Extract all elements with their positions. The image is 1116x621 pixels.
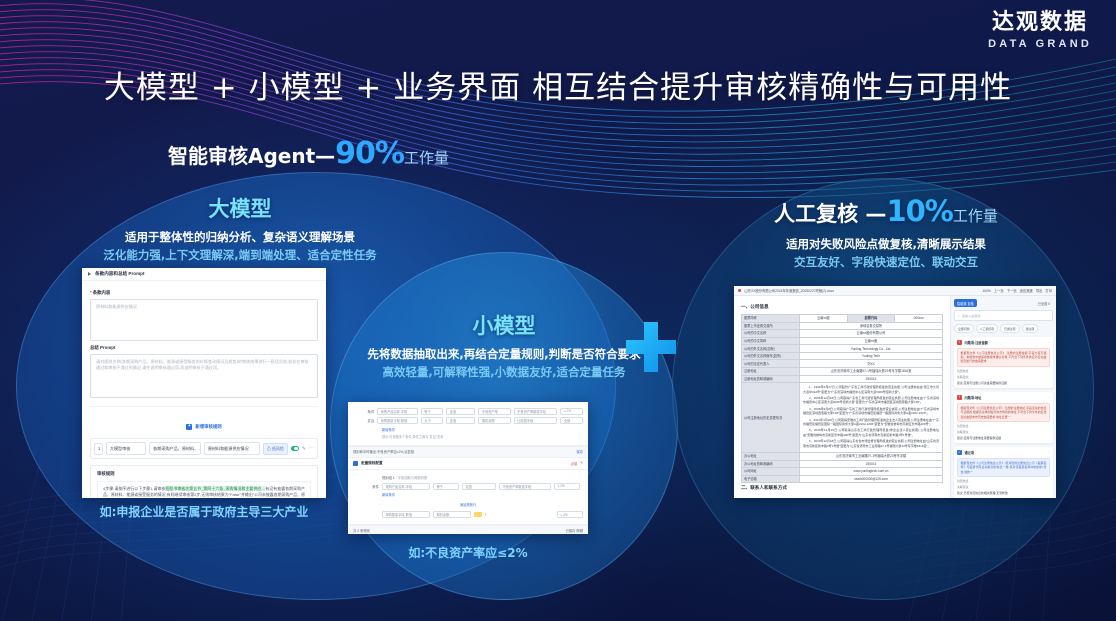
group-label: 规则组 1 xyxy=(382,475,395,480)
cell-key: 办公地址 xyxy=(742,453,800,461)
history-item: 4、2011年4月20日,公司取得安徽省工商行政管理局核发的企业法人营业执照,公… xyxy=(803,418,939,427)
add-condition-row: 新增条件 xyxy=(353,427,583,432)
chevron-right-icon[interactable] xyxy=(88,272,91,276)
review-card[interactable]: ! 问题项:注册金额 ⋯ 根据现文件《公司注册信息公示》:注册的注册金额,字段为… xyxy=(954,337,1053,388)
filter-chip-passed[interactable]: 已通过项 xyxy=(1000,324,1020,333)
error-icon: ! xyxy=(957,395,962,400)
table-row: 办公地址山东省济南市工业南路97-1号福瑞大厦23号写字楼 xyxy=(742,453,943,461)
rule-enable-toggle[interactable] xyxy=(291,446,299,451)
history-item: 1、1999年5月27日,公司股份广东省工商行政管理局核发的营业执照,公司注册地… xyxy=(803,385,939,394)
cell-value: 云南xx股 xyxy=(800,315,848,323)
condition-valuetype-select[interactable]: 定值 xyxy=(446,408,475,415)
field2-label: 总结 Prompt xyxy=(90,345,318,351)
card-title: 问题项:注册金额 xyxy=(965,340,988,345)
condition-value-input[interactable]: 不良资产率 xyxy=(478,408,510,415)
doc-heading-company-info: 一、公司信息 xyxy=(741,304,943,310)
quant-valuetype-select[interactable]: 定值 xyxy=(462,483,496,490)
toolbar-zoom[interactable]: 100% xyxy=(982,289,990,293)
slide-canvas: 达观数据 DATA GRAND 大模型 + 小模型 + 业务界面 相互结合提升审… xyxy=(0,0,1116,621)
cell-value: 250014 xyxy=(800,460,943,468)
doc-heading-contacts: 二、联系人和联系方式 xyxy=(741,485,943,491)
condition-value-input[interactable]: 期初余额 xyxy=(478,417,510,424)
table-row: 公司的法定代表人刘XX xyxy=(742,360,943,368)
cell-value: Yunling Technology Co., Ltd. xyxy=(800,345,943,353)
cell-key: 公司的法定代表人 xyxy=(742,360,800,368)
rule-text-1: 4步骤:请按序进行以下步骤1.请审核 xyxy=(103,486,165,491)
search-placeholder: 请输入关键词 xyxy=(962,313,981,318)
cell-key: 公司注册地址历史变更情况 xyxy=(742,383,800,453)
rule-type-select[interactable]: 大模型审核 xyxy=(106,442,146,455)
cell-value: 000xxx xyxy=(895,315,943,323)
table-row: 办公地址的邮政编码250014 xyxy=(742,460,943,468)
manual-review-heading-group: 人工复核 —10%工作量 适用对失败风险点做复核,清晰展示结果 交互友好、字段快… xyxy=(700,198,1072,271)
cell-key: 公司的外文名称(如有) xyxy=(742,345,800,353)
quant-threshold-input[interactable]: ≤ 2% xyxy=(554,483,580,490)
condition-compare-select[interactable]: 比较值字段 xyxy=(514,417,558,424)
history-item: 3、2008年9月8日,公司取得广东省工商行政管理局核发的营业执照,公司注册地址… xyxy=(803,407,939,416)
document-tab-title[interactable]: 山东XX股份有限公司2024年年度报告_20250227终稿(2).docx xyxy=(744,288,834,293)
card-title: 问题项:地址 xyxy=(965,395,982,400)
table-row: 公司的中文名称云南xx股份有限公司 xyxy=(742,330,943,338)
condition-field-select[interactable]: 采购数量字段-数值 xyxy=(377,417,418,424)
cell-paragraph: 1、1999年5月27日,公司股份广东省工商行政管理局核发的营业执照,公司注册地… xyxy=(800,383,943,453)
condition-threshold-input[interactable]: ≤ 2% xyxy=(560,408,583,415)
rule-index: 1 xyxy=(94,443,103,455)
condition-row[interactable]: 条件 采购产品名称-字段 等于 定值 不良资产率 不良资产率数值字段 ≤ 2% xyxy=(353,408,583,415)
cell-key: 注册地址 xyxy=(742,368,800,376)
brand-name-en: DATA GRAND xyxy=(988,37,1092,51)
toolbar-prev-page[interactable]: 上一页 xyxy=(994,288,1004,293)
cell-value: Yunling Tech xyxy=(800,352,943,360)
table-row: 公司的中文简称云南xx股 xyxy=(742,337,943,345)
search-icon: ⌕ xyxy=(958,314,960,318)
cell-key: 电子信箱 xyxy=(742,475,800,483)
quant-last-threshold[interactable]: ≤ 2% xyxy=(557,511,583,518)
card-suggestion: 建议:已核对该信息的相关整理,无须修改 xyxy=(957,491,1050,495)
card-location-label: 位置信息 xyxy=(957,424,1050,428)
agent-workload-label: 智能审核Agent—90%工作量 xyxy=(168,136,449,171)
toolbar-export[interactable]: 导出 xyxy=(1036,288,1043,293)
plus-icon: + xyxy=(186,424,192,430)
add-rule-line-link[interactable]: 添加规则行 xyxy=(353,500,583,509)
cell-value: 云南xx股 xyxy=(800,337,943,345)
group-label-row: 规则组 1 字段抽取与阈值判断 xyxy=(353,475,583,480)
page-title: 大模型 + 小模型 + 业务界面 相互结合提升审核精确性与可用性 xyxy=(0,62,1116,107)
rule-field-select[interactable]: 各期采购产品、原材料、… xyxy=(149,442,201,455)
manual-review-subtitle-1: 适用对失败风险点做复核,清晰展示结果 xyxy=(700,235,1072,253)
big-model-screenshot: 条款内容和总结 Prompt *条款内容 原材料和能源供应情况 总结 Promp… xyxy=(82,268,326,498)
table-row: 电子信箱stock000000@126.com xyxy=(742,475,943,483)
quant-rule-section-header: 定量规则配置 必填 ✎ xyxy=(348,458,588,470)
footer-right: 已保存 刚刚 xyxy=(566,528,583,533)
field1-textarea[interactable]: 原材料和能源供应情况 xyxy=(90,299,318,341)
manual-title-prefix: 人工复核 — xyxy=(774,202,886,226)
field1-label-text: 条款内容 xyxy=(93,290,111,295)
big-model-caption: 如:申报企业是否属于政府主导三大产业 xyxy=(82,503,326,520)
pencil-icon[interactable]: ✎ xyxy=(580,461,583,465)
cell-key: 公司网址 xyxy=(742,468,800,476)
toolbar-next-page[interactable]: 下一页 xyxy=(1007,288,1017,293)
cell-value: 深圳证券交易所 xyxy=(800,322,943,330)
rule-target-select[interactable]: 原材料和能源供应情况 xyxy=(204,442,260,455)
browser-tab-bar: 山东XX股份有限公司2024年年度报告_20250227终稿(2).docx 1… xyxy=(734,286,1056,296)
brand-logo: 达观数据 DATA GRAND xyxy=(988,10,1092,51)
toolbar-print[interactable]: 打印 xyxy=(1045,288,1052,293)
sub-label: 字段抽取与阈值判断 xyxy=(398,475,428,480)
output-bar: 规则命中时输出:不良资产率应≤2%,请复核 保存 xyxy=(348,446,588,458)
table-row: 注册地址山东省济南市工业南路97-1号福瑞大厦23号写字楼1816室 xyxy=(742,368,943,376)
quant-add-link[interactable]: 新增条件 xyxy=(382,492,395,497)
card-field-label: 关联建议 xyxy=(957,485,1050,489)
company-info-table: 股票简称 云南xx股 股票代码 000xxx 股票上市证券交易所深圳证券交易所 … xyxy=(741,314,943,483)
filter-chip-manual-items[interactable]: 人工复核项 xyxy=(976,324,998,333)
pencil-icon[interactable]: ✎ xyxy=(302,446,306,452)
big-model-subtitle-2: 泛化能力强,上下文理解深,端到端处理、适合定性任务 xyxy=(40,246,440,264)
filter-chip-all-issues[interactable]: 全部问题 xyxy=(954,324,974,333)
document-pane: 一、公司信息 股票简称 云南xx股 股票代码 000xxx 股票上市证券交易所深… xyxy=(734,296,950,498)
agent-prefix: 智能审核Agent— xyxy=(168,144,335,168)
quant-field-select[interactable]: 采购产品名称-字段 xyxy=(382,483,430,490)
rule-detail-title: 审核规则 xyxy=(97,471,311,477)
error-marker: ! xyxy=(485,513,486,517)
card-header: ! 问题项:注册金额 ⋯ xyxy=(957,340,1050,345)
table-row: 公司的外文名称(如有)Yunling Technology Co., Ltd. xyxy=(742,345,943,353)
hint-text: 提示:可设置多个条件,条件之间为"并且"关系 xyxy=(382,434,443,439)
filter-chip-pass[interactable]: 通过项 xyxy=(1022,324,1039,333)
agent-percent: 90% xyxy=(335,136,404,171)
card-quote: 根据现文件《公司注册信息公示》:注册的注册地址,字段变动的信息与证据的,根据该请… xyxy=(957,403,1050,423)
rule-table-row[interactable]: 1 大模型审核 各期采购产品、原材料、… 原材料和能源供应情况 ⚠ 低风险 ✎ … xyxy=(90,438,318,459)
ellipsis-icon[interactable]: ⋯ xyxy=(1047,340,1050,345)
table-row: 股票简称 云南xx股 股票代码 000xxx xyxy=(742,315,943,323)
quant-rule-title: 定量规则配置 xyxy=(361,461,383,466)
quant-operator-select[interactable]: 等于 xyxy=(433,483,459,490)
card-field-label: 关联建议 xyxy=(957,375,1050,379)
brand-name-cn: 达观数据 xyxy=(988,10,1092,36)
table-row: 公司网址www.yunlingtech.com.cn xyxy=(742,468,943,476)
footer-bar: 共 2 条规则 已保存 刚刚 xyxy=(348,525,588,535)
manual-percent: 10% xyxy=(886,194,952,228)
card-quote: 根据现文件《公司注册信息公示》:注册的注册金额,字段为百万级别。本报告中披露的数… xyxy=(957,348,1050,368)
quant-add-row: 新增条件 xyxy=(353,492,583,497)
table-row: 公司的外文名称缩写(如有)Yunling Tech xyxy=(742,352,943,360)
tab-all-items[interactable]: 已全部 6 xyxy=(1035,299,1053,307)
card-field-label: 关联建议 xyxy=(957,430,1050,434)
rule-block-icon xyxy=(353,461,358,466)
history-item: 2、2005年12月18日,公司取得广东省工商行政管理局核发的营业执照,公司注册… xyxy=(803,396,939,405)
small-model-caption: 如:不良资产率应≤2% xyxy=(348,544,588,561)
add-condition-link[interactable]: 新增条件 xyxy=(382,427,395,432)
review-tabs: 智能核 复核 已全部 6 xyxy=(954,299,1053,307)
cell-key: 公司的外文名称缩写(如有) xyxy=(742,352,800,360)
card-quote: 根据现文件《公司注册信息公示》:核对现的注册信息公示《股票名称》与股票代码变动情… xyxy=(957,458,1050,478)
card-header: ✓ 通过项 ⋯ xyxy=(957,450,1050,455)
condition-row-label: 并且 xyxy=(353,418,374,423)
big-model-subtitle-1: 适用于整体性的归纳分析、复杂语义理解场景 xyxy=(40,228,440,246)
ellipsis-icon[interactable]: ⋯ xyxy=(1047,395,1050,400)
table-row: 注册地址的邮政编码250014 xyxy=(742,375,943,383)
agent-unit: 工作量 xyxy=(404,149,449,167)
ellipsis-icon[interactable]: ⋯ xyxy=(309,445,314,452)
cell-key: 股票上市证券交易所 xyxy=(742,322,800,330)
big-model-title: 大模型 xyxy=(40,196,440,222)
condition-row-label: 条件 xyxy=(353,409,374,414)
add-rule-row: + 新增审核规则 xyxy=(90,406,318,432)
table-row: 股票上市证券交易所深圳证券交易所 xyxy=(742,322,943,330)
card-suggestion: 建议:应用与注册公司资金需要提供证据 xyxy=(957,381,1050,385)
cell-value: 山东省济南市工业南路97-1号福瑞大厦23号写字楼1816室 xyxy=(800,368,943,376)
required-marker: * xyxy=(90,290,92,295)
cell-key: 股票简称 xyxy=(742,315,800,323)
risk-badge: ⚠ 低风险 xyxy=(263,443,288,455)
big-model-heading-group: 大模型 适用于整体性的归纳分析、复杂语义理解场景 泛化能力强,上下文理解深,端到… xyxy=(40,196,440,264)
ellipsis-icon[interactable]: ⋯ xyxy=(1047,450,1050,455)
card-header: ! 问题项:地址 ⋯ xyxy=(957,395,1050,400)
quant-value-input[interactable]: 不良资产率数值字段 xyxy=(499,483,551,490)
card-location-label: 位置信息 xyxy=(957,369,1050,373)
highlight-marker xyxy=(474,512,482,517)
condition-compare-select[interactable]: 不良资产率数值字段 xyxy=(514,408,558,415)
cell-value: www.yunlingtech.com.cn xyxy=(800,468,943,476)
cell-key: 注册地址的邮政编码 xyxy=(742,375,800,383)
review-search-input[interactable]: ⌕ 请输入关键词 xyxy=(954,310,1053,321)
quant-last-value[interactable]: 期初余额 xyxy=(433,511,471,518)
rule-detail-box: 审核规则 4步骤:请按序进行以下步骤1.请审核招股书审核次第五节_第四十六条_采… xyxy=(90,465,318,498)
toolbar-fit-width[interactable]: 适应宽度 xyxy=(1020,288,1033,293)
cell-value: 250014 xyxy=(800,375,943,383)
condition-operator-select[interactable]: 大于 xyxy=(421,417,444,424)
cell-value: stock000000@126.com xyxy=(800,475,943,483)
field2-textarea[interactable]: 请对规则名称(各期采购产品、原材料、能源或接受服务的价格变动情况及趋势)的审核结… xyxy=(90,354,318,398)
table-row: 公司注册地址历史变更情况 1、1999年5月27日,公司股份广东省工商行政管理局… xyxy=(742,383,943,453)
manual-review-screenshot: 山东XX股份有限公司2024年年度报告_20250227终稿(2).docx 1… xyxy=(734,286,1056,498)
quant-condition-row[interactable]: 条件 采购产品名称-字段 等于 定值 不良资产率数值字段 ≤ 2% xyxy=(353,483,583,490)
small-model-screenshot: 条件 采购产品名称-字段 等于 定值 不良资产率 不良资产率数值字段 ≤ 2% … xyxy=(348,402,588,534)
risk-badge-label: 低风险 xyxy=(272,446,284,451)
footer-left: 共 2 条规则 xyxy=(353,528,370,533)
add-rule-label: 新增审核规则 xyxy=(195,424,221,430)
card-title: 通过项 xyxy=(965,450,975,455)
review-card[interactable]: ✓ 通过项 ⋯ 根据现文件《公司注册信息公示》:核对现的注册信息公示《股票名称》… xyxy=(954,447,1053,498)
condition-operator-select[interactable]: 等于 xyxy=(421,408,444,415)
condition-section-top: 条件 采购产品名称-字段 等于 定值 不良资产率 不良资产率数值字段 ≤ 2% … xyxy=(348,402,588,446)
rule-highlight-1: 招股书审核次第五节_第四十六条_采购情况和主要供应… xyxy=(165,486,265,491)
hint-row: 提示:可设置多个条件,条件之间为"并且"关系 xyxy=(353,434,583,439)
cell-key: 办公地址的邮政编码 xyxy=(742,460,800,468)
add-rule-button[interactable]: + 新增审核规则 xyxy=(186,424,221,430)
manual-review-subtitle-2: 交互友好、字段快速定位、联动交互 xyxy=(700,253,1072,271)
review-card[interactable]: ! 问题项:地址 ⋯ 根据现文件《公司注册信息公示》:注册的注册地址,字段变动的… xyxy=(954,392,1053,443)
tab-smart-review[interactable]: 智能核 复核 xyxy=(954,299,977,307)
review-filter-chips: 全部问题 人工复核项 已通过项 通过项 xyxy=(954,324,1053,333)
cell-key: 公司的中文简称 xyxy=(742,337,800,345)
cell-value: 刘XX xyxy=(800,360,943,368)
field1-label: *条款内容 xyxy=(90,290,318,296)
manual-unit: 工作量 xyxy=(953,207,998,225)
error-icon: ! xyxy=(957,340,962,345)
cell-value: 山东省济南市工业南路97-1号福瑞大厦23号写字楼 xyxy=(800,453,943,461)
card-location-label: 位置信息 xyxy=(957,479,1050,483)
condition-threshold-input[interactable]: 全部 xyxy=(560,417,583,424)
review-sidebar: 智能核 复核 已全部 6 ⌕ 请输入关键词 全部问题 人工复核项 已通过项 通过… xyxy=(950,296,1056,498)
cell-key: 公司的中文名称 xyxy=(742,330,800,338)
save-button[interactable]: 保存 xyxy=(576,449,583,454)
condition-field-select[interactable]: 采购产品名称-字段 xyxy=(377,408,418,415)
condition-row[interactable]: 并且 采购数量字段-数值 大于 定值 期初余额 比较值字段 全部 xyxy=(353,417,583,424)
check-icon: ✓ xyxy=(957,450,962,455)
quant-last-field[interactable]: 采购数量字段-数值 xyxy=(382,511,430,518)
cell-header: 股票代码 xyxy=(847,315,895,323)
rule-detail-text: 4步骤:请按序进行以下步骤1.请审核招股书审核次第五节_第四十六条_采购情况和主… xyxy=(97,481,311,498)
panel-header-label: 条款内容和总结 Prompt xyxy=(95,271,145,277)
cell-value: 云南xx股份有限公司 xyxy=(800,330,943,338)
history-item: 5、2015年12月23日,公司取得山东省工商行政管理局核发(非企业法人营业执照… xyxy=(803,428,939,437)
manual-review-title: 人工复核 —10%工作量 xyxy=(700,198,1072,229)
history-item: 6、2020年12月18日,公司取得山东省省市场监督管理局核发的营业执照,公司注… xyxy=(803,439,939,448)
quant-last-row[interactable]: 采购数量字段-数值 期初余额 ! ≤ 2% xyxy=(353,511,583,518)
close-icon[interactable] xyxy=(738,289,741,292)
condition-valuetype-select[interactable]: 定值 xyxy=(446,417,475,424)
plus-icon xyxy=(622,318,680,376)
card-suggestion: 建议:应用与注册地址需要提供证据 xyxy=(957,436,1050,440)
output-bar-left: 规则命中时输出:不良资产率应≤2%,请复核 xyxy=(353,449,414,454)
panel-header: 条款内容和总结 Prompt xyxy=(82,268,326,281)
required-tag: 必填 xyxy=(571,461,577,466)
quant-rule-body: 规则组 1 字段抽取与阈值判断 条件 采购产品名称-字段 等于 定值 不良资产率… xyxy=(348,470,588,525)
quant-row-label: 条件 xyxy=(353,484,379,489)
